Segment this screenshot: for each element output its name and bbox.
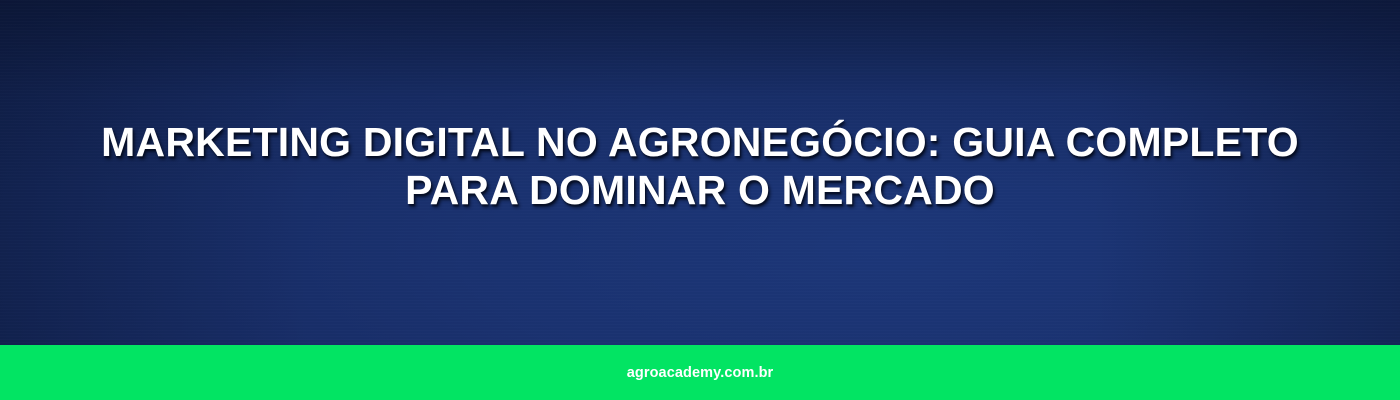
footer-bar: agroacademy.com.br	[0, 345, 1400, 400]
promotional-banner: MARKETING DIGITAL NO AGRONEGÓCIO: GUIA C…	[0, 0, 1400, 400]
footer-domain-label: agroacademy.com.br	[627, 365, 774, 381]
page-title: MARKETING DIGITAL NO AGRONEGÓCIO: GUIA C…	[0, 0, 1400, 345]
title-line-1: MARKETING DIGITAL NO AGRONEGÓCIO: GUIA C…	[101, 118, 1299, 166]
title-line-2: PARA DOMINAR O MERCADO	[405, 166, 995, 214]
